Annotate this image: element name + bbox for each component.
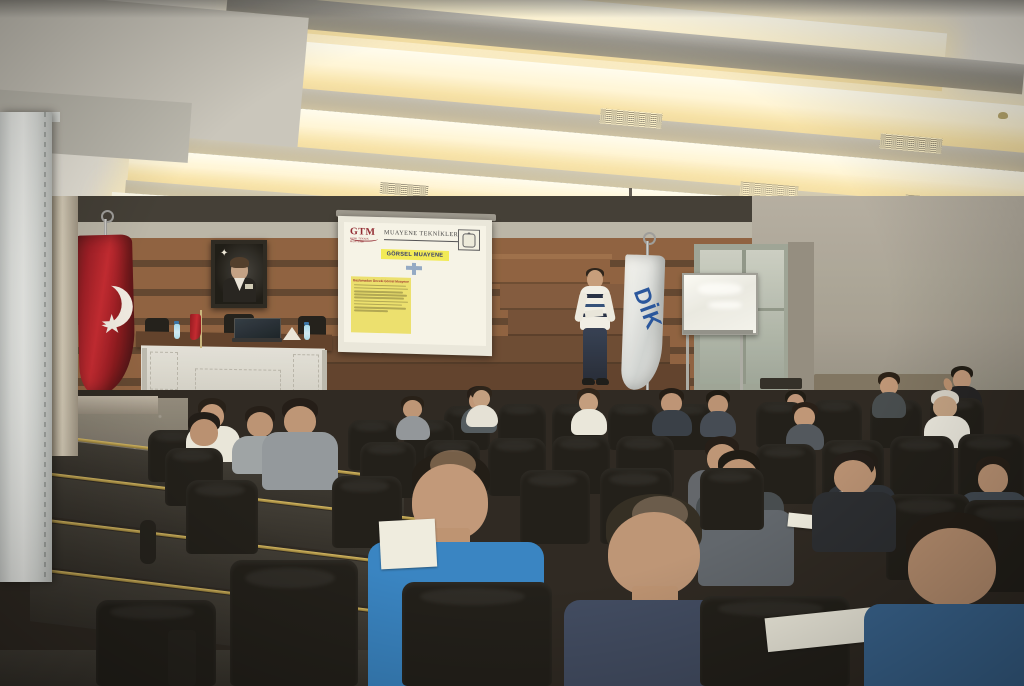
chair[interactable] — [186, 480, 258, 554]
sprinkler-head — [998, 112, 1008, 119]
attendee-row3-left — [176, 412, 232, 472]
chair[interactable] — [230, 560, 358, 686]
secondary-pillar — [52, 196, 78, 456]
attendee-back-small-2 — [466, 386, 498, 422]
audio-equipment[interactable] — [760, 378, 802, 389]
armrest — [140, 520, 156, 564]
slide-highlight-block: Başlamadan Önceki Görsel Muayene — [351, 276, 411, 334]
water-bottle[interactable] — [304, 325, 310, 340]
organization-flag-mark: DİK — [628, 284, 666, 333]
presenter — [578, 270, 612, 390]
front-attendee-right — [872, 512, 1024, 686]
laptop-base[interactable] — [232, 338, 282, 342]
double-arrow-icon — [406, 261, 422, 275]
column-seam — [44, 112, 46, 582]
bottle-cap — [174, 321, 179, 324]
star-icon: ★ — [100, 311, 124, 338]
whiteboard[interactable] — [682, 273, 758, 335]
handout-papers[interactable] — [379, 519, 437, 570]
slide-header: GTM GEMI TEKNIK MUAYENE MUAYENE TEKNİKLE… — [348, 225, 482, 249]
attendee-mid-2 — [572, 388, 606, 430]
flag-finial — [101, 210, 114, 223]
ataturk-portrait: ✦ — [211, 240, 267, 308]
presenter-legs — [583, 328, 607, 380]
chair[interactable] — [890, 436, 954, 500]
attendee-rear-left — [872, 372, 906, 414]
paper-cone — [283, 327, 301, 340]
presenter-shoe — [582, 378, 595, 385]
chair[interactable] — [402, 582, 552, 686]
desk-turkish-flag — [190, 314, 201, 340]
water-bottle[interactable] — [174, 324, 180, 339]
slide-block-heading: Başlamadan Önceki Görsel Muayene — [353, 278, 409, 284]
top-shadow — [0, 0, 1024, 18]
flag-finial — [643, 232, 656, 245]
attendee-mid-3 — [652, 388, 692, 432]
attendee-mid-5 — [786, 402, 824, 446]
conference-hall-photo: GTM GEMI TEKNIK MUAYENE MUAYENE TEKNİKLE… — [0, 0, 1024, 686]
presenter-shoe — [596, 378, 609, 385]
whiteboard-marker-tray — [683, 330, 753, 334]
slide-banner-text: GÖRSEL MUAYENE — [387, 251, 444, 259]
stage-tier-edge — [492, 254, 612, 259]
chair[interactable] — [96, 600, 216, 686]
stage-tier — [500, 284, 636, 310]
armrest — [168, 630, 196, 686]
badge-inner — [463, 233, 476, 247]
attendee-grey-shirt-2 — [264, 398, 334, 488]
bottle-cap — [304, 322, 309, 325]
attendee-mid-4 — [700, 390, 736, 434]
presentation-slide: GTM GEMI TEKNIK MUAYENE MUAYENE TEKNİKLE… — [344, 222, 486, 346]
slide-title: MUAYENE TEKNİKLERİ — [384, 229, 461, 238]
attendee-back-small — [396, 396, 430, 436]
gtm-logo: GTM GEMI TEKNIK MUAYENE — [350, 226, 380, 244]
chair[interactable] — [700, 468, 764, 530]
projection-screen[interactable]: GTM GEMI TEKNIK MUAYENE MUAYENE TEKNİKLE… — [338, 216, 492, 356]
standards-badge — [458, 229, 480, 251]
star-icon: ✦ — [220, 249, 228, 259]
slide-banner: GÖRSEL MUAYENE — [381, 249, 449, 261]
